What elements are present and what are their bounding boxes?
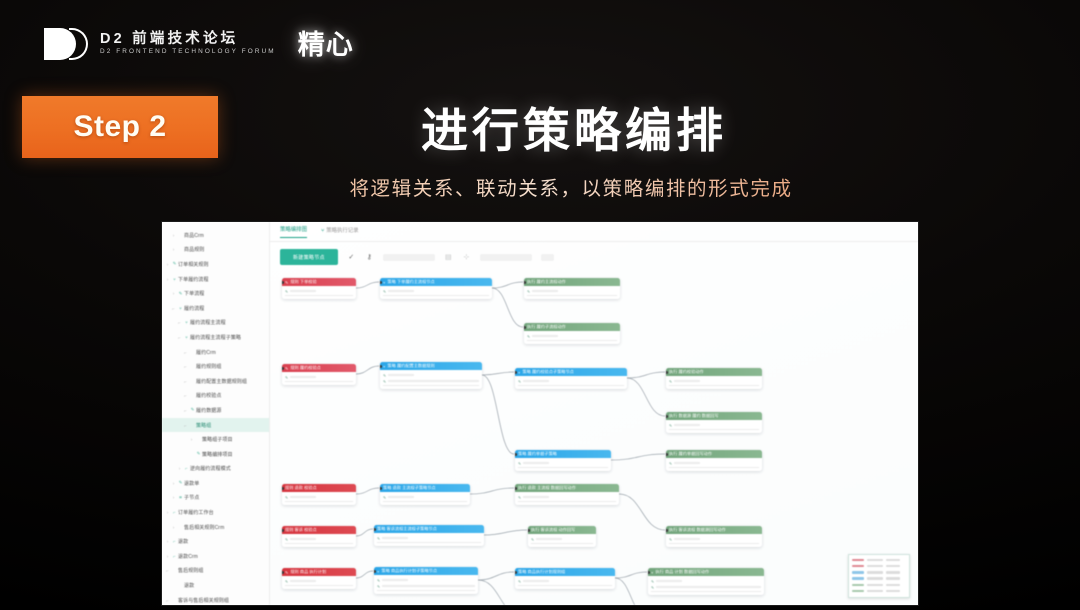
node-type-icon: ⑂: [383, 280, 385, 285]
chevron-icon[interactable]: ›: [164, 510, 171, 515]
minimap-cell: [867, 584, 883, 586]
flow-node[interactable]: 策略 退款 主流程子策略节点✎: [380, 484, 470, 505]
tree-node-icon: ⌗: [177, 495, 184, 500]
node-divider: [285, 585, 353, 586]
chevron-icon[interactable]: ⌐: [182, 393, 189, 398]
sidebar-item-label: 策略编排项目: [202, 451, 233, 458]
flow-node-body: ✎: [282, 576, 356, 589]
flow-node[interactable]: 策略 客诉流程主流程子策略节点✎: [374, 525, 484, 546]
flow-node-header: 策略 商品执行计划规则组: [515, 568, 615, 576]
node-input-port[interactable]: [666, 453, 668, 456]
sidebar-item[interactable]: ›商品Crm: [162, 228, 269, 243]
minimap-row: [852, 577, 906, 581]
row-value-bar: [382, 585, 475, 587]
flow-node-row: ✎: [669, 536, 759, 542]
sidebar-item[interactable]: ⌐履约配置主数据规则组: [162, 374, 269, 389]
row-value-bar: [290, 496, 316, 498]
flow-node[interactable]: 执行 退款 主流程 数据回写动作✎: [515, 484, 619, 505]
flow-node-body: ✎: [380, 286, 492, 299]
flow-node-body: ✎: [515, 458, 611, 471]
row-value-bar: [532, 335, 558, 337]
node-divider: [518, 467, 608, 468]
row-icon: ✎: [377, 578, 380, 583]
flow-node[interactable]: ⑂执行 商品 计划 数据回写动作✎✎: [648, 568, 764, 595]
flow-node-body: ✎: [666, 534, 762, 547]
node-input-port[interactable]: [524, 281, 526, 284]
minimap-cell: [886, 590, 900, 592]
flow-node[interactable]: ✎规则 履约校验点✎: [282, 364, 356, 385]
row-icon: ✎: [383, 289, 386, 294]
chevron-icon[interactable]: ›: [164, 554, 171, 559]
row-icon: ✎: [669, 423, 672, 428]
chevron-icon[interactable]: ⌐: [170, 306, 177, 311]
node-divider: [527, 340, 617, 341]
flow-node[interactable]: 规则 退款 校验点✎: [282, 484, 356, 505]
minimap-cell: [886, 577, 900, 579]
toolbar-field-b[interactable]: [480, 254, 532, 261]
tree-node-icon: ⑂: [177, 306, 184, 311]
flow-node-title: 策略 履约校验点子策略节点: [522, 369, 573, 375]
flow-node-row: ✎: [383, 378, 479, 384]
flow-node[interactable]: 执行 履约校验动作✎: [666, 368, 762, 389]
sub-logo: 精心: [298, 23, 354, 62]
flow-node-header: 执行 履约校验动作: [666, 368, 762, 376]
tree-node-icon: ✎: [177, 291, 184, 297]
flow-node-header: 规则 退款 校验点: [282, 484, 356, 492]
flow-node-title: 规则 退款 校验点: [285, 485, 317, 491]
row-value-bar: [388, 374, 414, 376]
flow-node-header: ⑂执行 商品 计划 数据回写动作: [648, 568, 764, 576]
flow-node-title: 执行 履约单据回写动作: [669, 451, 712, 457]
flow-node-row: ✎: [285, 536, 353, 542]
flow-node-row: ✎: [285, 578, 353, 584]
row-icon: ✎: [527, 334, 530, 339]
chevron-icon[interactable]: ⌐: [176, 320, 183, 325]
row-icon: ✎: [518, 579, 521, 584]
flow-node[interactable]: ✎规则 商品 执行计划✎: [282, 568, 356, 589]
flow-node-header: ✎规则 履约校验点: [282, 364, 356, 372]
flow-node-body: ✎: [515, 576, 615, 589]
flow-node[interactable]: 执行 数据源 履约 数据回写✎: [666, 412, 762, 433]
row-value-bar: [656, 586, 761, 588]
node-input-port[interactable]: [282, 281, 284, 284]
sidebar-item[interactable]: ✎策略编排项目: [162, 447, 269, 462]
tab-icon: ⑂: [321, 228, 324, 234]
tree-node-icon: ✎: [171, 261, 178, 267]
flow-edge: [619, 494, 665, 530]
sidebar-item-label: 订单相关规则: [178, 261, 209, 268]
flow-node-title: 执行 客诉流程 动作回写: [531, 527, 575, 533]
flow-node[interactable]: ⑂策略 履约配置主数据规则✎✎: [380, 362, 482, 389]
node-input-port[interactable]: [666, 529, 668, 532]
chevron-icon[interactable]: ›: [170, 525, 177, 530]
key-icon[interactable]: ⚷: [365, 253, 374, 261]
row-value-bar: [674, 424, 700, 426]
flow-node-header: 执行 履约子流程动作: [524, 323, 620, 331]
flow-node-title: 策略 履约配置主数据规则: [387, 363, 434, 369]
flow-node-title: 策略 商品执行计划规则组: [518, 569, 565, 575]
target-icon[interactable]: ⊹: [462, 253, 471, 261]
row-icon: ✎: [285, 537, 288, 542]
sidebar-item[interactable]: ⌐⑂履约流程: [162, 301, 269, 316]
node-type-icon: ⑂: [383, 364, 385, 369]
page-title: 进行策略编排: [0, 92, 1080, 161]
node-type-icon: ⑂: [651, 570, 653, 575]
flow-node[interactable]: 执行 履约子流程动作✎: [524, 323, 620, 344]
node-divider: [285, 381, 353, 382]
minimap-cell: [867, 590, 883, 592]
sidebar-item[interactable]: ›⑂下单履约流程: [162, 272, 269, 287]
chevron-icon[interactable]: ›: [164, 539, 171, 544]
row-icon: ✎: [285, 579, 288, 584]
node-divider: [383, 501, 467, 502]
check-icon[interactable]: ✓: [347, 253, 356, 261]
tab-label: 策略编排图: [280, 227, 307, 233]
tree-node-icon: ⌐: [171, 510, 178, 515]
flow-node-title: 执行 履约校验动作: [669, 369, 704, 375]
flow-node-row: ✎: [669, 422, 759, 428]
row-icon: ✎: [651, 579, 654, 584]
sidebar-item-label: 履约规则组: [196, 363, 222, 370]
flow-node[interactable]: 规则 客诉 校验点✎: [282, 526, 356, 547]
sidebar-item-label: 订单履约工作台: [178, 509, 214, 516]
sidebar-item[interactable]: 退款: [162, 578, 269, 593]
node-input-port[interactable]: [374, 570, 376, 573]
flow-node-row: ✎: [518, 578, 612, 584]
node-divider: [383, 295, 489, 296]
row-icon: ✎: [285, 495, 288, 500]
flow-node-body: ✎: [374, 533, 484, 546]
flow-edge: [484, 530, 527, 535]
row-icon: ✎: [377, 584, 380, 589]
flow-node-header: 策略 履约单据子策略: [515, 450, 611, 458]
sidebar-item-label: 履约流程: [184, 305, 204, 312]
flow-node-body: ✎: [282, 286, 356, 299]
flow-edge: [615, 578, 647, 605]
row-value-bar: [382, 579, 408, 581]
minimap-cell: [886, 571, 900, 573]
flow-node-row: ✎: [383, 288, 489, 294]
node-input-port[interactable]: [282, 367, 284, 370]
main-panel: 策略编排图⑂策略执行记录 新建策略节点 ✓ ⚷ ▤ ⊹ ✎规则 下单校验✎⑂策略…: [270, 222, 918, 605]
flow-node-title: 规则 客诉 校验点: [285, 527, 317, 533]
sidebar-item-label: 退款Crm: [178, 553, 198, 560]
node-divider: [285, 295, 353, 296]
flow-node-row: ✎: [518, 460, 608, 466]
chevron-icon[interactable]: ⌐: [164, 568, 171, 573]
node-divider: [651, 591, 761, 592]
chevron-icon[interactable]: ›: [170, 495, 177, 500]
flow-node-body: ✎✎: [374, 575, 478, 594]
flow-edge: [482, 375, 514, 454]
flow-node-title: 执行 数据源 履约 数据回写: [669, 413, 719, 419]
flow-node-header: ⑂策略 商品执行计划子策略节点: [374, 567, 478, 575]
sidebar-item-label: 下单流程: [184, 290, 204, 297]
sidebar-item[interactable]: ›⌐退款Crm: [162, 549, 269, 564]
flow-edge: [356, 488, 379, 494]
chevron-icon[interactable]: ⌐: [164, 598, 171, 603]
flow-node-body: ✎: [515, 376, 627, 389]
flow-node[interactable]: ⑂策略 下单履约主流程节点✎: [380, 278, 492, 299]
chevron-icon[interactable]: ›: [170, 481, 177, 486]
node-divider: [669, 467, 759, 468]
sidebar-item[interactable]: ›⌐逆向履约流程模式: [162, 462, 269, 477]
node-input-port[interactable]: [374, 528, 376, 531]
minimap-cell: [852, 571, 864, 573]
flow-node-header: 执行 数据源 履约 数据回写: [666, 412, 762, 420]
sidebar-tree[interactable]: ›商品Crm›商品规则›✎订单相关规则›⑂下单履约流程›✎下单流程⌐⑂履约流程⌐…: [162, 222, 270, 605]
flow-node-body: ✎: [524, 331, 620, 344]
node-input-port[interactable]: [282, 529, 284, 532]
tab-0[interactable]: 策略编排图: [280, 225, 307, 238]
flow-node-body: ✎: [282, 492, 356, 505]
node-input-port[interactable]: [380, 281, 382, 284]
sidebar-item[interactable]: ›商品规则: [162, 243, 269, 258]
node-input-port[interactable]: [666, 371, 668, 374]
sidebar-item[interactable]: ⌐售后规则组: [162, 564, 269, 579]
flow-node[interactable]: 执行 履约单据回写动作✎: [666, 450, 762, 471]
flow-node-title: 策略 退款 主流程子策略节点: [383, 485, 436, 491]
minimap[interactable]: [848, 554, 910, 598]
sidebar-item[interactable]: ›⌐订单履约工作台: [162, 505, 269, 520]
row-icon: ✎: [651, 585, 654, 590]
sidebar-item-label: 履约校验点: [196, 392, 222, 399]
sidebar-item-label: 下单履约流程: [178, 276, 209, 283]
flow-edge: [627, 372, 665, 378]
sidebar-item[interactable]: ⌐客诉与售后相关规则组: [162, 593, 269, 605]
brand-name-cn: D2 前端技术论坛: [100, 32, 276, 47]
node-input-port[interactable]: [380, 365, 382, 368]
node-input-port[interactable]: [282, 487, 284, 490]
row-value-bar: [532, 290, 558, 292]
sidebar-item[interactable]: ⌐履约校验点: [162, 389, 269, 404]
flow-node-row: ✎: [518, 378, 624, 384]
tree-node-icon: ⌐: [183, 466, 190, 471]
minimap-cell: [852, 584, 864, 586]
flow-edge: [492, 288, 523, 327]
chevron-icon[interactable]: ⌐: [182, 350, 189, 355]
flow-node-body: ✎: [515, 492, 619, 505]
tab-1[interactable]: ⑂策略执行记录: [321, 226, 359, 238]
node-divider: [527, 295, 617, 296]
new-strategy-node-button[interactable]: 新建策略节点: [280, 249, 338, 265]
flow-node-header: 策略 退款 主流程子策略节点: [380, 484, 470, 492]
node-divider: [518, 585, 612, 586]
row-icon: ✎: [377, 536, 380, 541]
sidebar-item[interactable]: ›⌗子节点: [162, 491, 269, 506]
flow-node-row: ✎: [285, 374, 353, 380]
flow-node-header: ⑂策略 履约校验点子策略节点: [515, 368, 627, 376]
row-icon: ✎: [518, 461, 521, 466]
chevron-icon[interactable]: ⌐: [182, 408, 189, 413]
row-value-bar: [290, 580, 316, 582]
sidebar-item-label: 售后相关规则Crm: [184, 524, 224, 531]
flow-node-row: ✎: [383, 494, 467, 500]
flow-node-body: ✎: [666, 458, 762, 471]
node-input-port[interactable]: [648, 571, 650, 574]
chevron-icon[interactable]: ›: [176, 466, 183, 471]
flow-node-row: ✎: [531, 536, 593, 542]
toolbar-field-a[interactable]: [383, 254, 435, 261]
sidebar-item[interactable]: ⌐策略组: [162, 418, 269, 433]
flow-node-body: ✎: [666, 420, 762, 433]
minimap-cell: [867, 565, 883, 567]
flow-node-row: ✎: [527, 333, 617, 339]
d2-logo: D2 前端技术论坛 D2 FRONTEND TECHNOLOGY FORUM: [44, 28, 276, 60]
node-divider: [377, 542, 481, 543]
node-type-icon: ✎: [285, 366, 288, 371]
flow-node-row: ✎: [518, 494, 616, 500]
sidebar-item-label: 售后规则组: [178, 567, 204, 574]
chevron-icon[interactable]: ⌐: [182, 423, 189, 428]
tree-node-icon: ⌐: [171, 539, 178, 544]
chevron-icon[interactable]: ›: [170, 291, 177, 296]
flow-edges: [270, 272, 918, 605]
flow-node[interactable]: ⑂策略 商品执行计划子策略节点✎✎: [374, 567, 478, 594]
chevron-icon[interactable]: ⌐: [176, 335, 183, 340]
flow-node-title: 规则 商品 执行计划: [290, 569, 326, 575]
row-value-bar: [290, 538, 316, 540]
node-type-icon: ✎: [285, 280, 288, 285]
chevron-icon[interactable]: ⌐: [182, 379, 189, 384]
row-value-bar: [523, 380, 549, 382]
sidebar-item[interactable]: ›策略组子项目: [162, 432, 269, 447]
toolbar-field-c[interactable]: [541, 254, 554, 261]
flow-node-header: 执行 退款 主流程 数据回写动作: [515, 484, 619, 492]
flow-node-body: ✎: [380, 492, 470, 505]
flow-node-header: 策略 客诉流程主流程子策略节点: [374, 525, 484, 533]
row-value-bar: [536, 538, 562, 540]
sidebar-item[interactable]: ›✎下单流程: [162, 286, 269, 301]
node-input-port[interactable]: [515, 571, 517, 574]
flow-node-body: ✎: [528, 534, 596, 547]
node-input-port[interactable]: [515, 453, 517, 456]
flow-node[interactable]: 执行 客诉流程 动作回写✎: [528, 526, 596, 547]
flow-node-title: 执行 退款 主流程 数据回写动作: [518, 485, 576, 491]
node-type-icon: ⑂: [377, 569, 379, 574]
flow-node-header: 执行 履约单据回写动作: [666, 450, 762, 458]
flow-edge: [470, 488, 514, 494]
node-input-port[interactable]: [666, 415, 668, 418]
flow-node[interactable]: 执行 客诉流程 数据源回写动作✎: [666, 526, 762, 547]
chevron-icon[interactable]: ›: [170, 247, 177, 252]
flow-node-title: 执行 商品 计划 数据回写动作: [655, 569, 709, 575]
flow-node-header: 执行 履约主流程动作: [524, 278, 620, 286]
flow-node-body: ✎: [524, 286, 620, 299]
row-icon: ✎: [669, 379, 672, 384]
sidebar-item-label: 商品规则: [184, 246, 204, 253]
flow-edge: [615, 572, 647, 578]
flow-node-body: ✎: [666, 376, 762, 389]
flow-node-row: ✎: [669, 460, 759, 466]
node-divider: [285, 501, 353, 502]
node-input-port[interactable]: [524, 326, 526, 329]
row-value-bar: [388, 496, 414, 498]
node-input-port[interactable]: [515, 371, 517, 374]
tree-node-icon: ⑂: [183, 335, 190, 340]
chevron-icon[interactable]: ›: [170, 233, 177, 238]
d2-logo-mark-icon: [44, 28, 90, 60]
chevron-icon[interactable]: ›: [164, 277, 171, 282]
node-divider: [669, 385, 759, 386]
flow-node-title: 执行 客诉流程 数据源回写动作: [669, 527, 726, 533]
node-input-port[interactable]: [515, 487, 517, 490]
row-value-bar: [656, 580, 682, 582]
tree-node-icon: ✎: [189, 407, 196, 413]
tree-node-icon: ✎: [195, 451, 202, 457]
sidebar-item[interactable]: ›售后相关规则Crm: [162, 520, 269, 535]
row-value-bar: [674, 380, 700, 382]
chevron-icon[interactable]: ›: [164, 262, 171, 267]
grid-icon[interactable]: ▤: [444, 253, 453, 261]
flow-node-header: ✎规则 下单校验: [282, 278, 356, 286]
sidebar-item[interactable]: ⌐⑂履约流程主流程: [162, 316, 269, 331]
node-divider: [669, 543, 759, 544]
sidebar-item[interactable]: ⌐履约Crm: [162, 345, 269, 360]
row-icon: ✎: [285, 375, 288, 380]
node-input-port[interactable]: [380, 487, 382, 490]
flow-node-row: ✎: [527, 288, 617, 294]
row-icon: ✎: [285, 289, 288, 294]
flow-node[interactable]: ✎规则 下单校验✎: [282, 278, 356, 299]
tree-node-icon: ✎: [177, 480, 184, 486]
flow-node[interactable]: 执行 履约主流程动作✎: [524, 278, 620, 299]
flow-canvas[interactable]: ✎规则 下单校验✎⑂策略 下单履约主流程节点✎执行 履约主流程动作✎执行 履约子…: [270, 272, 918, 605]
sidebar-item[interactable]: ⌐⑂履约流程主流程子策略: [162, 330, 269, 345]
tab-bar: 策略编排图⑂策略执行记录: [270, 222, 918, 242]
row-icon: ✎: [518, 495, 521, 500]
row-value-bar: [523, 496, 549, 498]
row-icon: ✎: [518, 379, 521, 384]
sidebar-item[interactable]: ⌐履约规则组: [162, 359, 269, 374]
row-value-bar: [290, 376, 316, 378]
minimap-row: [852, 570, 906, 574]
flow-node-title: 策略 商品执行计划子策略节点: [381, 568, 437, 574]
flow-edge: [478, 572, 514, 580]
minimap-row: [852, 583, 906, 587]
flow-node-header: ✎规则 商品 执行计划: [282, 568, 356, 576]
node-divider: [669, 429, 759, 430]
flow-node-title: 规则 下单校验: [290, 279, 316, 285]
flow-node[interactable]: ⑂策略 履约校验点子策略节点✎: [515, 368, 627, 389]
minimap-cell: [886, 584, 900, 586]
flow-node[interactable]: 策略 商品执行计划规则组✎: [515, 568, 615, 589]
flow-node-title: 策略 履约单据子策略: [518, 451, 557, 457]
flow-node-body: ✎: [282, 534, 356, 547]
flow-edge: [356, 366, 379, 374]
node-divider: [531, 543, 593, 544]
sidebar-item[interactable]: ›⌐退款: [162, 534, 269, 549]
sidebar-item[interactable]: ›✎退款单: [162, 476, 269, 491]
sidebar-item-label: 子节点: [184, 494, 199, 501]
flow-node-header: ⑂策略 履约配置主数据规则: [380, 362, 482, 370]
sidebar-item[interactable]: ⌐✎履约数据源: [162, 403, 269, 418]
minimap-cell: [852, 559, 864, 561]
node-divider: [383, 385, 479, 386]
node-input-port[interactable]: [282, 571, 284, 574]
minimap-row: [852, 558, 906, 562]
sidebar-item-label: 逆向履约流程模式: [190, 465, 231, 472]
sidebar-item[interactable]: ›✎订单相关规则: [162, 257, 269, 272]
node-input-port[interactable]: [528, 529, 530, 532]
flow-node-row: ✎: [377, 583, 475, 589]
chevron-icon[interactable]: ›: [188, 437, 195, 442]
minimap-cell: [867, 577, 883, 579]
flow-node-title: 执行 履约主流程动作: [527, 279, 566, 285]
flow-node[interactable]: 策略 履约单据子策略✎: [515, 450, 611, 471]
chevron-icon[interactable]: ⌐: [182, 364, 189, 369]
flow-node-title: 规则 履约校验点: [290, 365, 320, 371]
